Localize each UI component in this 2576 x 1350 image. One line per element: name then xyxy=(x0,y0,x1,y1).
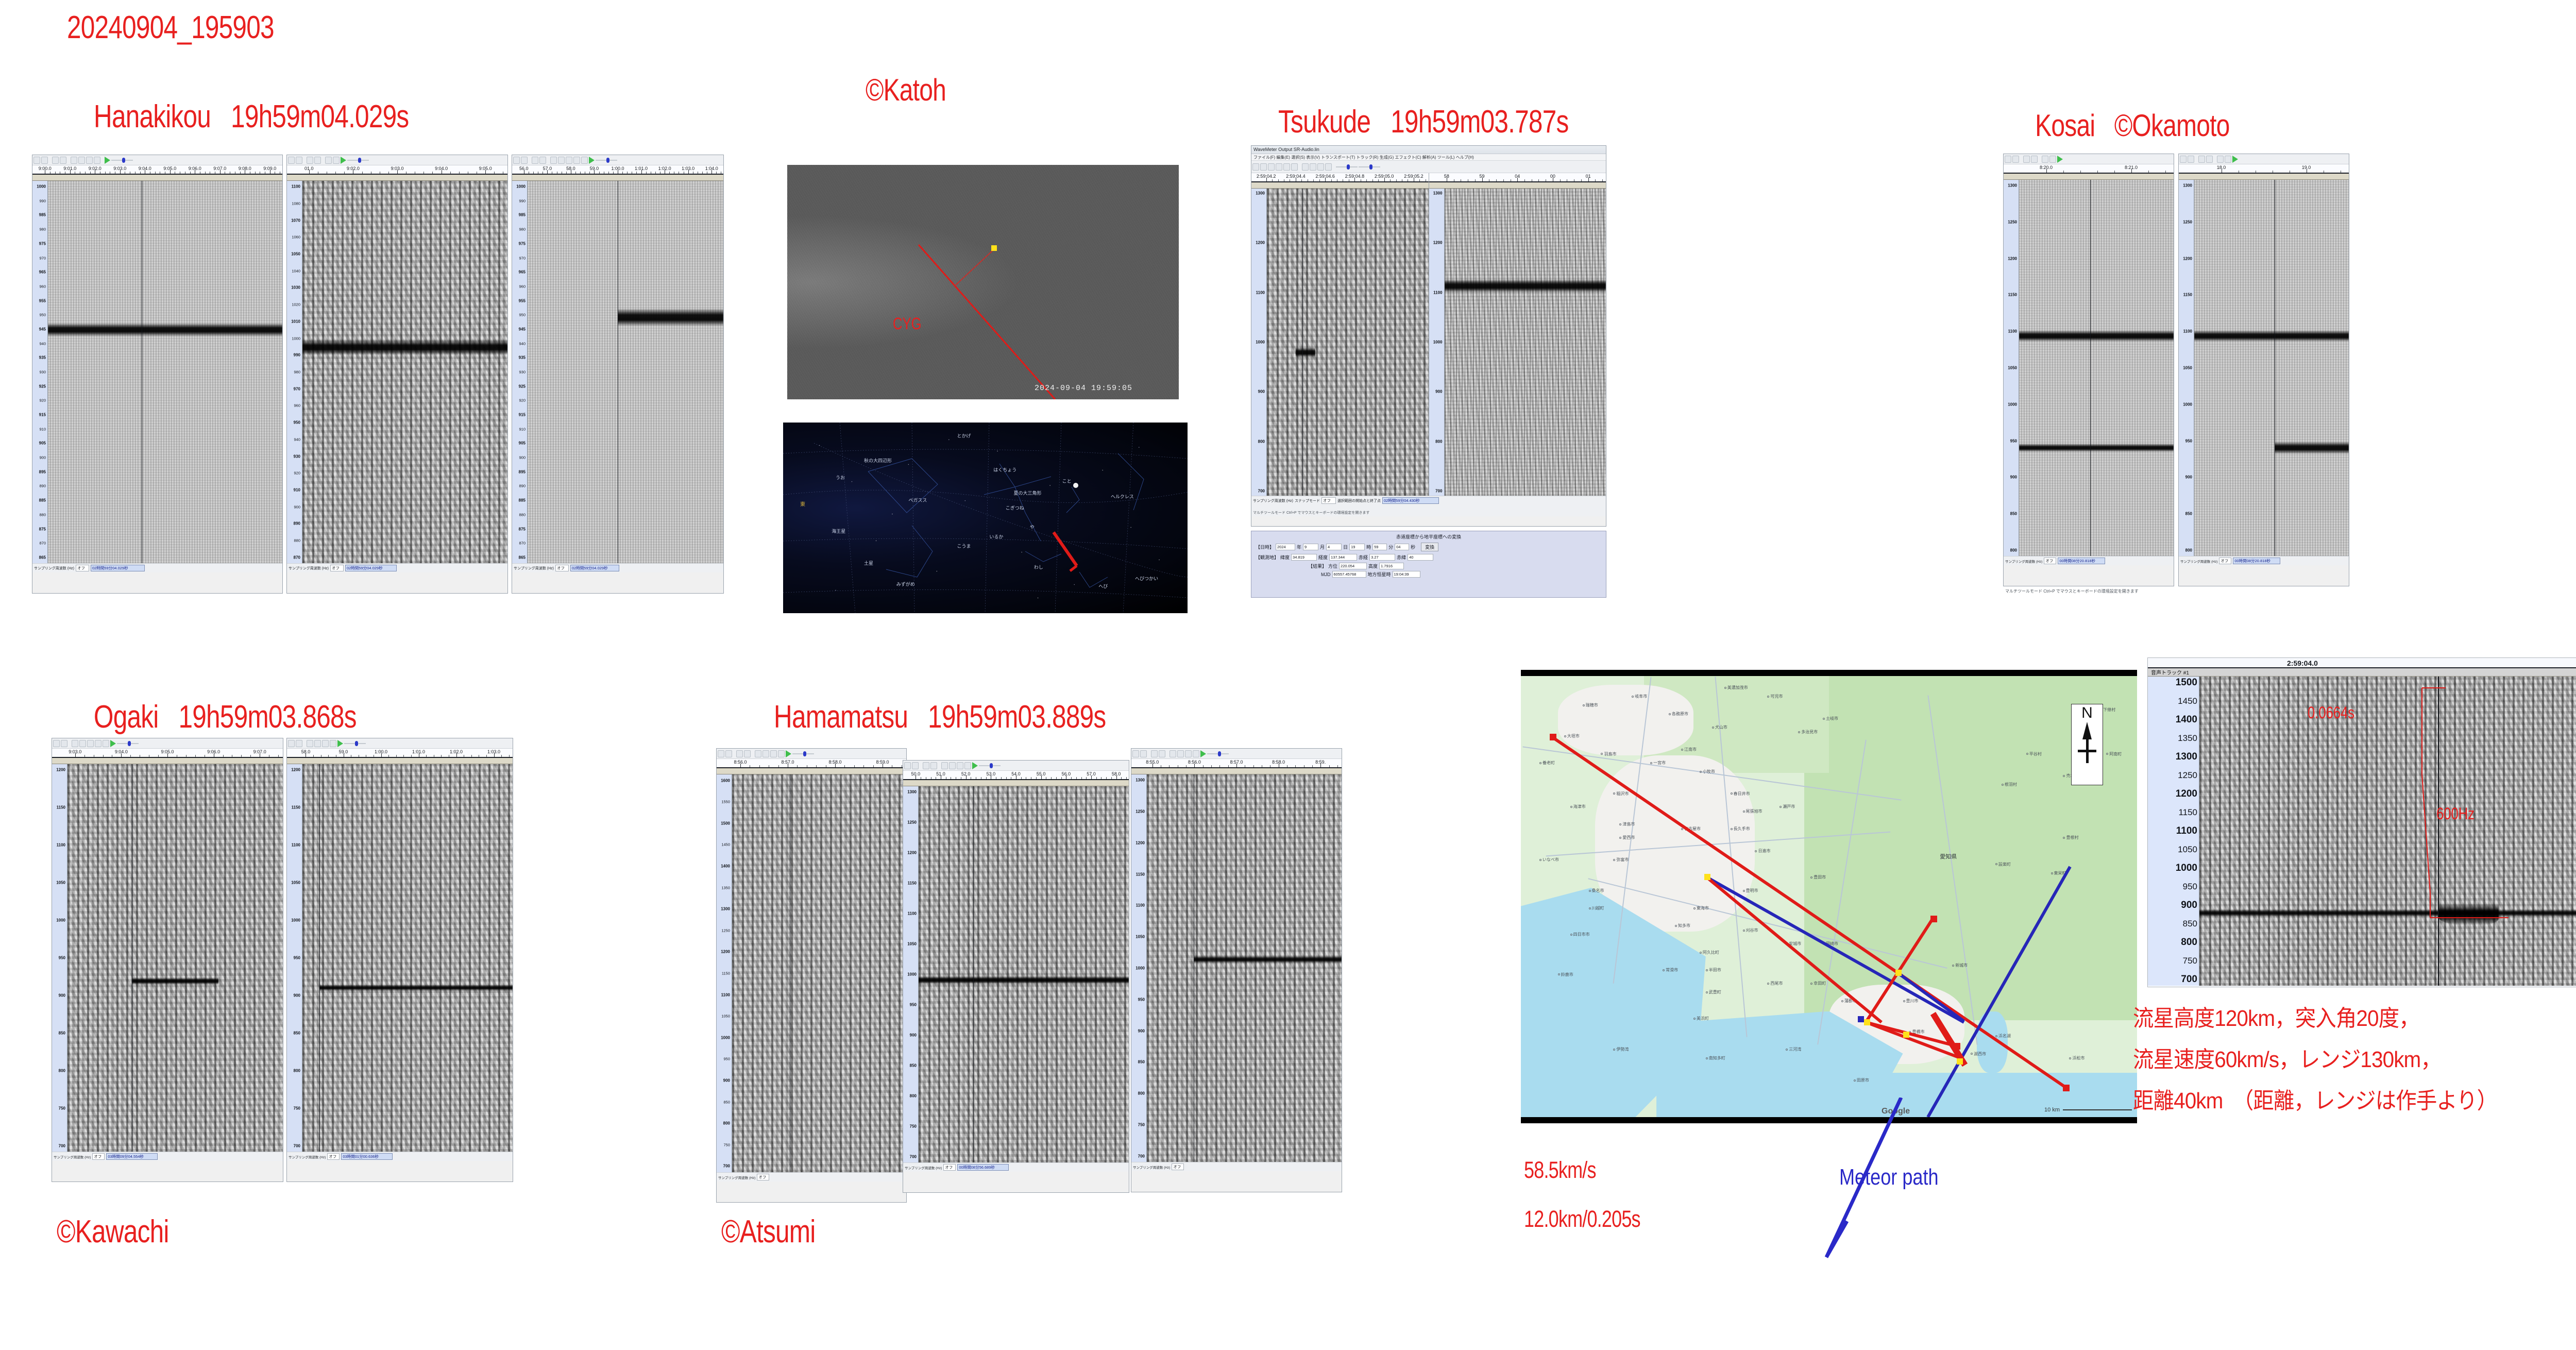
spectrogram-canvas-hamamatsu-3[interactable] xyxy=(1147,774,1342,1162)
spectrogram-tsukude-2[interactable]: 1300120011001000900800700 xyxy=(1429,189,1606,496)
spectrogram-canvas-hamamatsu-2[interactable] xyxy=(919,786,1129,1162)
ruler-minor-tick xyxy=(1308,179,1308,181)
redo-icon[interactable] xyxy=(2031,156,2038,163)
play-green-icon[interactable] xyxy=(2057,156,2063,163)
minute-input[interactable]: 59 xyxy=(1372,544,1387,550)
status-bar-hamamatsu-2[interactable]: サンプリング周波数 (Hz) オフ 00時間08分56.689秒 xyxy=(903,1162,1129,1172)
playhead-cursor[interactable] xyxy=(2275,180,2275,556)
playhead-cursor[interactable] xyxy=(790,774,790,1172)
play-icon[interactable] xyxy=(725,750,732,757)
status-bar-hanakikou-2[interactable]: サンプリング周波数 (Hz) オフ 02時間59分04.029秒 xyxy=(287,563,507,572)
mjd-output: 60557.45768 xyxy=(1332,571,1366,578)
play-icon[interactable] xyxy=(521,157,528,164)
undo-icon[interactable] xyxy=(2198,156,2205,163)
envelope-tool-icon[interactable] xyxy=(1310,163,1316,171)
snap-mode-select[interactable]: オフ xyxy=(2044,558,2056,564)
poster-root: 20240904_195903 Hanakikou 19h59m04.029s … xyxy=(0,0,2576,1350)
spectrogram-canvas-ogaki-2[interactable] xyxy=(302,764,513,1152)
frequency-axis-tsukude-2: 1300120011001000900800700 xyxy=(1429,189,1445,496)
record-icon[interactable] xyxy=(1291,163,1298,171)
play-icon[interactable] xyxy=(1260,163,1267,171)
audacity-window-hamamatsu-2[interactable]: 50.051.052.053.054.055.056.057.058.0 130… xyxy=(903,760,1129,1193)
constellation-name-label: いるか xyxy=(989,533,1003,540)
input-level-slider[interactable] xyxy=(1336,164,1358,170)
ruler-minor-tick xyxy=(2324,171,2324,173)
ruler-minor-tick xyxy=(1313,179,1314,181)
frequency-tick-label: 910 xyxy=(39,427,46,431)
frequency-tick-label: 975 xyxy=(519,241,526,246)
status-bar-kosai-1[interactable]: サンプリング周波数 (Hz) オフ 00時間08分20.818秒 xyxy=(2004,556,2174,565)
ruler-minor-tick xyxy=(533,172,534,174)
frequency-tick-label: 1100 xyxy=(1433,290,1442,295)
zoom-out-icon[interactable] xyxy=(2049,156,2056,163)
ruler-minor-tick xyxy=(185,172,185,174)
zoom-sel-icon[interactable] xyxy=(770,750,777,757)
frequency-tick-label: 1400 xyxy=(721,864,730,868)
frequency-tick-label: 980 xyxy=(294,370,300,375)
zoom-out-icon[interactable] xyxy=(333,157,340,164)
frequency-tick-label: 945 xyxy=(39,327,46,331)
zoom-time-ruler[interactable]: 2:59:04.0 xyxy=(2148,658,2576,668)
frequency-tick-label: 800 xyxy=(1435,439,1442,444)
status-bar-hamamatsu-3[interactable]: サンプリング周波数 (Hz) オフ xyxy=(1131,1162,1342,1171)
ruler-minor-tick xyxy=(1001,777,1002,779)
snap-mode-select[interactable]: オフ xyxy=(2219,558,2231,564)
zoom-fit-icon[interactable] xyxy=(573,157,580,164)
fit-selection-icon[interactable] xyxy=(86,157,93,164)
zoom-out-icon[interactable] xyxy=(762,750,769,757)
zoom-fit-icon[interactable] xyxy=(330,740,336,747)
measurement-overlay xyxy=(2199,677,2576,986)
ruler-minor-tick xyxy=(477,172,477,174)
dec-input[interactable]: 40 xyxy=(1408,554,1433,561)
play-icon[interactable] xyxy=(61,740,67,747)
audacity-window-ogaki-2[interactable]: 58.059.01:00.01:01.01:02.01:03.0 1200115… xyxy=(286,738,513,1182)
playhead-cursor[interactable] xyxy=(319,764,320,1152)
frequency-tick-label: 900 xyxy=(2185,475,2192,480)
toolbar-kosai-2[interactable] xyxy=(2179,154,2349,164)
playhead-cursor[interactable] xyxy=(973,786,974,1162)
playhead-cursor[interactable] xyxy=(132,764,132,1152)
draw-tool-icon[interactable] xyxy=(1317,163,1324,171)
spectrogram-canvas-kosai-1[interactable] xyxy=(2019,180,2174,556)
snap-mode-select[interactable]: オフ xyxy=(555,565,569,571)
selection-start-field[interactable]: 02時間59分04.029秒 xyxy=(91,565,145,571)
spectrogram-canvas-kosai-2[interactable] xyxy=(2194,180,2349,556)
redo-icon[interactable] xyxy=(930,762,937,769)
play-icon[interactable] xyxy=(2188,156,2194,163)
credit-atsumi: ©Atsumi xyxy=(721,1213,816,1250)
ruler-minor-tick xyxy=(1287,765,1287,767)
audacity-window-hanakikou-2[interactable]: 01.09:02.09:03.09:04.09:05.0 11001080107… xyxy=(286,155,508,594)
frequency-tick-label: 900 xyxy=(294,993,300,998)
zoom-out-icon[interactable] xyxy=(1177,750,1184,757)
meteor-path-map[interactable]: 岐阜市瑞穂市各務原市可児市美濃加茂市犬山市土岐市多治見市大垣市羽島市江南市一宮市… xyxy=(1521,670,2137,1123)
audacity-window-tsukude[interactable]: WaveMeter Output SR-Audio.lin ファイル(F) 編集… xyxy=(1251,145,1606,527)
status-bar-hanakikou-3[interactable]: サンプリング周波数 (Hz) オフ 02時間59分04.029秒 xyxy=(512,563,723,572)
time-ruler-hanakikou-1[interactable]: 9:00.09:01.09:02.09:03.09:04.09:05.09:06… xyxy=(32,165,282,175)
undo-icon[interactable] xyxy=(1151,750,1158,757)
time-ruler-kosai-2[interactable]: 18.019.0 xyxy=(2179,164,2349,174)
second-unit: 秒 xyxy=(1411,544,1415,550)
spectrogram-kosai-2[interactable]: 1300125012001150110010501000950900850800 xyxy=(2179,180,2349,556)
zoom-in-icon[interactable] xyxy=(325,157,332,164)
ruler-minor-tick xyxy=(1567,179,1567,181)
skip-end-icon[interactable] xyxy=(1283,163,1290,171)
play-green-icon[interactable] xyxy=(589,157,595,164)
frequency-tick-label: 1000 xyxy=(1256,340,1265,345)
toolbar-hamamatsu-3[interactable] xyxy=(1131,749,1342,759)
toolbar-hamamatsu-2[interactable] xyxy=(903,761,1129,771)
zoom-in-icon[interactable] xyxy=(2217,156,2224,163)
time-ruler-hamamatsu-3[interactable]: 8:55.08:56.08:57.08:58.08:59. xyxy=(1131,759,1342,768)
status-bar-hamamatsu-1[interactable]: サンプリング周波数 (Hz) オフ xyxy=(717,1172,906,1182)
play-green-icon[interactable] xyxy=(786,750,791,757)
month-input[interactable]: 9 xyxy=(1303,544,1318,550)
frequency-tick-label: 1050 xyxy=(2008,366,2017,370)
frequency-tick-label: 900 xyxy=(1435,390,1442,394)
frequency-tick-label: 905 xyxy=(39,441,46,446)
zoom-in-icon[interactable] xyxy=(72,740,78,747)
longitude-input[interactable]: 137.344 xyxy=(1329,554,1357,561)
zoom-out-icon[interactable] xyxy=(558,157,565,164)
sampling-rate-label: サンプリング周波数 (Hz) xyxy=(54,1154,91,1159)
meteor-echo-trace-lower xyxy=(2275,442,2349,454)
frequency-tick-label: 960 xyxy=(39,284,46,289)
playhead-cursor[interactable] xyxy=(618,181,618,563)
zoom-in-icon[interactable] xyxy=(71,157,77,164)
toolbar-ogaki-2[interactable] xyxy=(287,738,513,749)
zoom-sel-icon[interactable] xyxy=(322,740,329,747)
zoom-spectrogram-body[interactable]: 1500145014001350130012501200115011001050… xyxy=(2148,677,2576,986)
snap-mode-select[interactable]: オフ xyxy=(1172,1163,1184,1170)
audacity-window-kosai-2[interactable]: 18.019.0 1300125012001150110010501000950… xyxy=(2178,154,2349,586)
toolbar-hanakikou-2[interactable] xyxy=(287,155,507,165)
frequency-tick-label: 1150 xyxy=(1136,872,1145,876)
toolbar-kosai-1[interactable] xyxy=(2004,154,2174,164)
hour-input[interactable]: 19 xyxy=(1349,544,1365,550)
pause-icon[interactable] xyxy=(2180,156,2187,163)
ruler-minor-tick xyxy=(450,172,451,174)
ruler-minor-tick xyxy=(931,777,931,779)
time-ruler-tsukude-2[interactable]: 5859040001 xyxy=(1429,173,1606,182)
play-green-icon[interactable] xyxy=(337,740,343,747)
selection-start-field[interactable]: 02時間59分04.029秒 xyxy=(345,565,397,571)
ruler-minor-tick xyxy=(195,755,196,757)
skip-start-icon[interactable] xyxy=(1276,163,1282,171)
spectrogram-tsukude-1[interactable]: 1300120011001000900800700 xyxy=(1251,189,1429,496)
ruler-minor-tick xyxy=(509,755,510,757)
station-marker-hamamatsu xyxy=(2063,1085,2070,1091)
zoom-spectrogram-canvas[interactable]: 0.0664s 600Hz xyxy=(2199,677,2576,986)
pause-icon[interactable] xyxy=(718,750,724,757)
pause-icon[interactable] xyxy=(33,157,40,164)
frequency-tick-label: 1000 xyxy=(292,336,300,341)
snap-mode-select[interactable]: オフ xyxy=(943,1164,956,1171)
undo-icon[interactable] xyxy=(532,157,538,164)
time-ruler-hanakikou-3[interactable]: 56.057.058.059.01:00.01:01.01:02.01:03.0… xyxy=(512,165,723,175)
ruler-minor-tick xyxy=(1270,765,1270,767)
track-header-tsukude-2 xyxy=(1429,182,1606,189)
play-green-icon[interactable] xyxy=(105,157,110,164)
spectrogram-ogaki-1[interactable]: 12001150110010501000950900850800750700 xyxy=(52,764,283,1152)
undo-icon[interactable] xyxy=(307,157,313,164)
frequency-tick-label: 750 xyxy=(910,1124,917,1129)
spectrogram-canvas-hamamatsu-1[interactable] xyxy=(732,774,906,1172)
audacity-window-hamamatsu-3[interactable]: 8:55.08:56.08:57.08:58.08:59. 1300125012… xyxy=(1131,748,1342,1192)
second-input[interactable]: 04 xyxy=(1395,544,1409,550)
zoom-track-label: 音声トラック #1 xyxy=(2148,668,2576,677)
zoom-in-icon[interactable] xyxy=(550,157,557,164)
ruler-minor-tick xyxy=(1312,765,1313,767)
frequency-tick-label: 1300 xyxy=(2008,183,2017,188)
spectrogram-hanakikou-2[interactable]: 1100108010701060105010401030102010101000… xyxy=(287,181,507,563)
spectrogram-hanakikou-3[interactable]: 1000990985980975970965960955950945940935… xyxy=(512,181,723,563)
frequency-tick-label: 1500 xyxy=(2176,677,2197,688)
ruler-time-label: 9:08.0 xyxy=(239,166,251,171)
selection-start-field[interactable]: 02時間59分04.029秒 xyxy=(570,565,619,571)
latitude-input[interactable]: 34.819 xyxy=(1291,554,1317,561)
spectrogram-hamamatsu-3[interactable]: 1300125012001150110010501000950900850800… xyxy=(1131,774,1342,1162)
ruler-minor-tick xyxy=(175,172,175,174)
frequency-tick-label: 940 xyxy=(39,341,46,346)
zoom-in-icon[interactable] xyxy=(2042,156,2048,163)
redo-icon[interactable] xyxy=(744,750,751,757)
compass-rose: N xyxy=(2071,704,2103,785)
zoom-sel-icon[interactable] xyxy=(1185,750,1192,757)
zoom-fit-icon[interactable] xyxy=(1193,750,1199,757)
snap-mode-select[interactable]: オフ xyxy=(327,1153,340,1160)
spectrogram-canvas-hanakikou-2[interactable] xyxy=(302,181,507,563)
play-icon[interactable] xyxy=(912,762,919,769)
zoom-in-icon[interactable] xyxy=(755,750,761,757)
playhead-cursor[interactable] xyxy=(2090,180,2091,556)
gain-slider[interactable] xyxy=(792,751,814,757)
time-ruler-tsukude-1[interactable]: 2:59:04.22:59:04.42:59:04.62:59:04.82:59… xyxy=(1251,173,1429,182)
ra-input[interactable]: 3.27 xyxy=(1369,554,1395,561)
minute-unit: 分 xyxy=(1388,544,1393,550)
skip-start-icon[interactable] xyxy=(60,157,66,164)
zoom-in-icon[interactable] xyxy=(1170,750,1176,757)
output-level-slider[interactable] xyxy=(1359,164,1380,170)
spectrogram-hanakikou-1[interactable]: 1000990985980975970965960955950945940935… xyxy=(32,181,282,563)
direction-label-east: 東 xyxy=(800,500,805,508)
zoom-tool-icon[interactable] xyxy=(1325,163,1332,171)
audacity-window-hamamatsu-1[interactable]: 8:56.08:57.08:58.08:59.0 160015501500145… xyxy=(716,748,907,1203)
zoom-fit-icon[interactable] xyxy=(964,762,971,769)
time-ruler-ogaki-2[interactable]: 58.059.01:00.01:01.01:02.01:03.0 xyxy=(287,749,513,758)
ruler-minor-tick xyxy=(50,172,50,174)
zoom-in-icon[interactable] xyxy=(307,740,313,747)
audacity-window-hanakikou-1[interactable]: 9:00.09:01.09:02.09:03.09:04.09:05.09:06… xyxy=(32,155,283,594)
station-marker-toyohashi xyxy=(1954,1043,1960,1050)
status-bar-kosai-2[interactable]: サンプリング周波数 (Hz) オフ 00時間08分20.818秒 xyxy=(2179,556,2349,565)
toolbar-ogaki-1[interactable] xyxy=(52,738,283,749)
play-green-icon[interactable] xyxy=(2232,156,2238,163)
spectrogram-hamamatsu-1[interactable]: 1600155015001450140013501300125012001150… xyxy=(717,774,906,1172)
zoom-toggle-icon[interactable] xyxy=(581,157,588,164)
audacity-window-hanakikou-3[interactable]: 56.057.058.059.01:00.01:01.01:02.01:03.0… xyxy=(512,155,724,594)
day-input[interactable]: 4 xyxy=(1326,544,1342,550)
ruler-time-label: 01 xyxy=(1586,174,1591,179)
zoom-fit-icon[interactable] xyxy=(95,740,101,747)
zoom-in-icon[interactable] xyxy=(941,762,948,769)
pause-icon[interactable] xyxy=(2005,156,2011,163)
pause-icon[interactable] xyxy=(288,157,295,164)
zoom-out-icon[interactable] xyxy=(949,762,956,769)
ruler-time-label: 01.0 xyxy=(304,166,314,171)
selection-start-field[interactable]: 02時間59分04.430秒 xyxy=(1382,497,1439,504)
tsukude-subpanel-1[interactable]: 2:59:04.22:59:04.42:59:04.62:59:04.82:59… xyxy=(1251,173,1429,496)
status-bar-tsukude[interactable]: サンプリング周波数 (Hz) スナップモード オフ 選択範囲の開始点と終了点 0… xyxy=(1251,496,1606,516)
ruler-minor-tick xyxy=(1524,179,1525,181)
frequency-tick-label: 935 xyxy=(39,356,46,360)
ruler-minor-tick xyxy=(1511,179,1511,181)
spectrogram-canvas-ogaki-1[interactable] xyxy=(67,764,283,1152)
play-icon[interactable] xyxy=(296,740,302,747)
pause-icon[interactable] xyxy=(904,762,911,769)
spectrogram-hamamatsu-2[interactable]: 1300125012001150110010501000950900850800… xyxy=(903,786,1129,1162)
selection-start-field[interactable]: 00時間08分20.818秒 xyxy=(2058,558,2105,564)
snap-mode-select[interactable]: オフ xyxy=(757,1174,769,1180)
selection-start-field-2[interactable]: 03時間01分00.636秒 xyxy=(341,1153,393,1160)
frequency-tick-label: 1050 xyxy=(291,881,300,885)
frequency-tick-label: 1300 xyxy=(721,907,730,912)
frequency-tick-label: 1000 xyxy=(37,184,46,189)
zoom-spectrogram-panel[interactable]: 2:59:04.0 音声トラック #1 15001450140013501300… xyxy=(2147,657,2576,987)
constellation-name-label: はくちょう xyxy=(993,466,1016,473)
audacity-window-kosai-1[interactable]: 8:20.08:21.0 130012501200115011001050100… xyxy=(2003,154,2174,586)
frequency-tick-label: 1000 xyxy=(2183,402,2192,407)
time-ruler-ogaki-1[interactable]: 9:03.09:04.09:05.09:06.09:07.0 xyxy=(52,749,283,758)
zoom-sel-icon[interactable] xyxy=(87,740,94,747)
snap-mode-select[interactable]: オフ xyxy=(330,565,344,571)
time-ruler-hamamatsu-1[interactable]: 8:56.08:57.08:58.08:59.0 xyxy=(717,759,906,768)
zoom-time-label: 2:59:04.0 xyxy=(2287,659,2318,667)
zoom-toggle-icon[interactable] xyxy=(103,740,109,747)
playhead-cursor[interactable] xyxy=(142,181,142,563)
stop-icon[interactable] xyxy=(52,157,59,164)
fit-project-icon[interactable] xyxy=(94,157,100,164)
gain-slider[interactable] xyxy=(979,763,1001,769)
toolbar-tsukude[interactable] xyxy=(1251,161,1606,173)
gain-slider[interactable] xyxy=(111,157,133,163)
gain-slider[interactable] xyxy=(117,740,139,747)
time-ruler-hanakikou-2[interactable]: 01.09:02.09:03.09:04.09:05.0 xyxy=(287,165,507,175)
zoom-out-icon[interactable] xyxy=(78,157,85,164)
snap-mode-select[interactable]: オフ xyxy=(76,565,89,571)
gain-slider[interactable] xyxy=(347,157,369,163)
time-ruler-kosai-1[interactable]: 8:20.08:21.0 xyxy=(2004,164,2174,174)
undo-icon[interactable] xyxy=(2023,156,2030,163)
time-ruler-hamamatsu-2[interactable]: 50.051.052.053.054.055.056.057.058.0 xyxy=(903,771,1129,780)
year-input[interactable]: 2024 xyxy=(1276,544,1295,550)
zoom-out-icon[interactable] xyxy=(314,740,321,747)
play-icon[interactable] xyxy=(41,157,48,164)
status-bar-ogaki-2[interactable]: サンプリング周波数 (Hz) オフ 03時間01分00.636秒 xyxy=(287,1152,513,1161)
play-icon[interactable] xyxy=(296,157,302,164)
zoom-sel-icon[interactable] xyxy=(957,762,963,769)
selection-start-field[interactable]: 03時間09分04.554秒 xyxy=(106,1153,158,1160)
selection-tool-icon[interactable] xyxy=(1302,163,1309,171)
redo-icon[interactable] xyxy=(314,157,321,164)
spectrogram-canvas-hanakikou-1[interactable] xyxy=(48,181,282,563)
noise-texture xyxy=(732,774,906,1172)
stop-icon[interactable] xyxy=(1268,163,1275,171)
toolbar-hamamatsu-1[interactable] xyxy=(717,749,906,759)
play-icon[interactable] xyxy=(1140,750,1147,757)
zoom-fit-icon[interactable] xyxy=(778,750,785,757)
ruler-minor-tick xyxy=(674,172,674,174)
play-icon[interactable] xyxy=(2012,156,2019,163)
ruler-minor-tick xyxy=(2097,171,2098,173)
gain-slider[interactable] xyxy=(1207,751,1229,757)
toolbar-hanakikou-1[interactable] xyxy=(32,155,282,165)
zoom-sel-icon[interactable] xyxy=(566,157,572,164)
menubar-tsukude[interactable]: ファイル(F) 編集(E) 選択(S) 表示(V) トランスポート(T) トラッ… xyxy=(1251,154,1606,161)
spectrogram-canvas-tsukude-2[interactable] xyxy=(1445,189,1606,496)
pause-icon[interactable] xyxy=(53,740,60,747)
spectrogram-kosai-1[interactable]: 1300125012001150110010501000950900850800 xyxy=(2004,180,2174,556)
undo-icon[interactable] xyxy=(736,750,743,757)
pause-icon[interactable] xyxy=(513,157,520,164)
play-green-icon[interactable] xyxy=(110,740,116,747)
ruler-time-label: 9:07.0 xyxy=(213,166,226,171)
selection-start-field[interactable]: 00時間08分20.818秒 xyxy=(2233,558,2280,564)
zoom-out-icon[interactable] xyxy=(79,740,86,747)
redo-icon[interactable] xyxy=(1159,750,1165,757)
gain-slider[interactable] xyxy=(344,740,366,747)
spectrogram-ogaki-2[interactable]: 12001150110010501000950900850800750700 xyxy=(287,764,513,1152)
play-green-icon[interactable] xyxy=(1200,750,1206,757)
play-green-icon[interactable] xyxy=(341,157,346,164)
playhead-cursor[interactable] xyxy=(1194,774,1194,1162)
frequency-tick-label: 1200 xyxy=(291,768,300,772)
frequency-tick-label: 890 xyxy=(39,484,46,488)
convert-button[interactable]: 変換 xyxy=(1421,543,1438,551)
frequency-tick-label: 965 xyxy=(39,270,46,275)
snap-mode-select[interactable]: オフ xyxy=(1321,497,1336,504)
undo-icon[interactable] xyxy=(923,762,929,769)
spectrogram-canvas-hanakikou-3[interactable] xyxy=(528,181,723,563)
status-bar-ogaki-1[interactable]: サンプリング周波数 (Hz) オフ 03時間09分04.554秒 xyxy=(52,1152,283,1161)
snap-mode-select[interactable]: オフ xyxy=(92,1153,105,1160)
spectrogram-canvas-tsukude-1[interactable] xyxy=(1267,189,1429,496)
pause-icon[interactable] xyxy=(1252,163,1259,171)
tsukude-subpanel-2[interactable]: 5859040001 1300120011001000900800700 xyxy=(1429,173,1606,496)
toolbar-hanakikou-3[interactable] xyxy=(512,155,723,165)
redo-icon[interactable] xyxy=(2206,156,2213,163)
zoom-out-icon[interactable] xyxy=(2225,156,2231,163)
audacity-window-ogaki-1[interactable]: 9:03.09:04.09:05.09:06.09:07.0 120011501… xyxy=(52,738,283,1182)
pause-icon[interactable] xyxy=(1132,750,1139,757)
window-titlebar-tsukude[interactable]: WaveMeter Output SR-Audio.lin xyxy=(1251,146,1606,154)
coordinate-conversion-form[interactable]: 赤道座標から地平座標への変換 【日時】 2024 年 9 月 4 日 19 時 … xyxy=(1251,531,1606,598)
play-green-icon[interactable] xyxy=(972,762,978,769)
ruler-minor-tick xyxy=(1253,765,1254,767)
gain-slider[interactable] xyxy=(596,157,617,163)
status-bar-hanakikou-1[interactable]: サンプリング周波数 (Hz) オフ 02時間59分04.029秒 xyxy=(32,563,282,572)
ruler-minor-tick xyxy=(589,172,590,174)
pause-icon[interactable] xyxy=(288,740,295,747)
ruler-minor-tick xyxy=(110,172,110,174)
redo-icon[interactable] xyxy=(539,157,546,164)
playhead-cursor[interactable] xyxy=(1302,189,1303,496)
frequency-tick-label: 850 xyxy=(2185,512,2192,516)
ruler-minor-tick xyxy=(155,172,156,174)
ruler-minor-tick xyxy=(223,755,224,757)
selection-start-field[interactable]: 00時間08分56.689秒 xyxy=(957,1164,1009,1171)
